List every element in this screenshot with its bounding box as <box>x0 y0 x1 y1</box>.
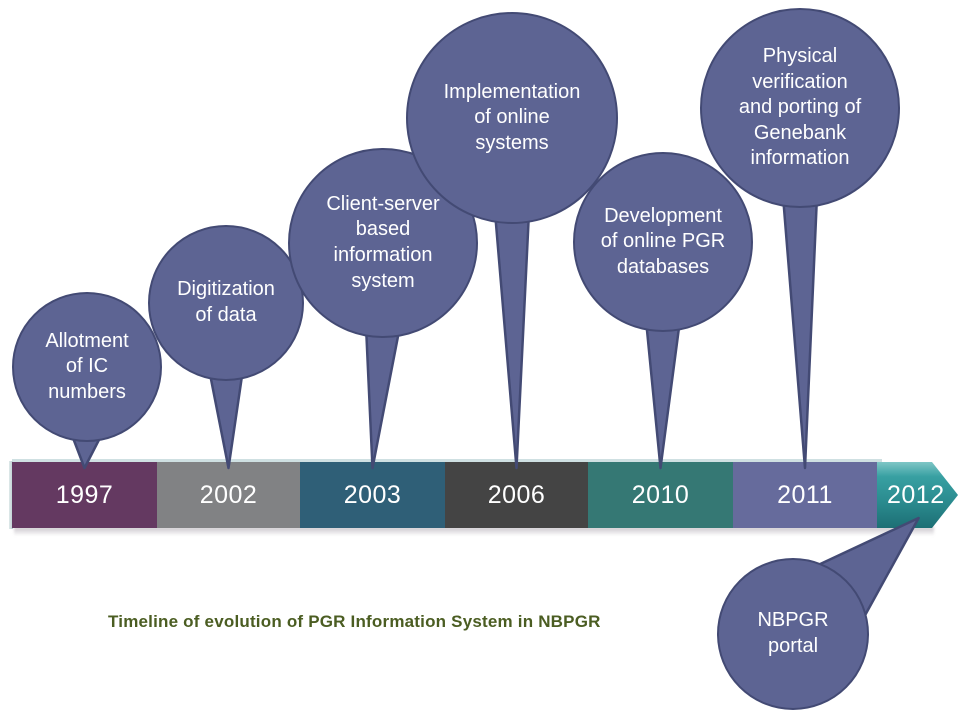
timeline-year-label: 2012 <box>887 481 945 510</box>
timeline-year-label: 2003 <box>344 481 402 510</box>
callout-label: Digitization of data <box>171 277 281 328</box>
callout-bubble[interactable]: Implementation of online systems <box>406 12 618 224</box>
diagram-caption: Timeline of evolution of PGR Information… <box>108 612 601 632</box>
timeline-year-label: 2010 <box>632 481 690 510</box>
timeline-bar-shadow <box>14 527 934 536</box>
callout-bubble[interactable]: Development of online PGR databases <box>573 152 753 332</box>
callout-label: Implementation of online systems <box>438 80 587 157</box>
timeline-diagram: Allotment of IC numbersDigitization of d… <box>0 0 960 720</box>
callout-2002[interactable]: Digitization of data <box>148 225 304 381</box>
callout-2011[interactable]: Physical verification and porting of Gen… <box>700 8 900 208</box>
timeline-year-label: 1997 <box>56 481 114 510</box>
callout-bubble[interactable]: NBPGR portal <box>717 558 869 710</box>
callout-bubble[interactable]: Physical verification and porting of Gen… <box>700 8 900 208</box>
callout-2010[interactable]: Development of online PGR databases <box>573 152 753 332</box>
timeline-year-label: 2011 <box>777 481 833 510</box>
timeline-year-label: 2006 <box>488 481 546 510</box>
callout-label: Development of online PGR databases <box>595 204 732 281</box>
callout-1997[interactable]: Allotment of IC numbers <box>12 292 162 442</box>
timeline-year-label: 2002 <box>200 481 258 510</box>
callout-label: Client-server based information system <box>320 192 445 294</box>
callout-label: Allotment of IC numbers <box>39 329 134 406</box>
callout-2006[interactable]: Implementation of online systems <box>406 12 618 224</box>
callout-bubble[interactable]: Allotment of IC numbers <box>12 292 162 442</box>
callout-label: NBPGR portal <box>751 608 834 659</box>
callout-label: Physical verification and porting of Gen… <box>733 44 867 172</box>
callout-2012[interactable]: NBPGR portal <box>717 558 869 710</box>
callout-bubble[interactable]: Digitization of data <box>148 225 304 381</box>
